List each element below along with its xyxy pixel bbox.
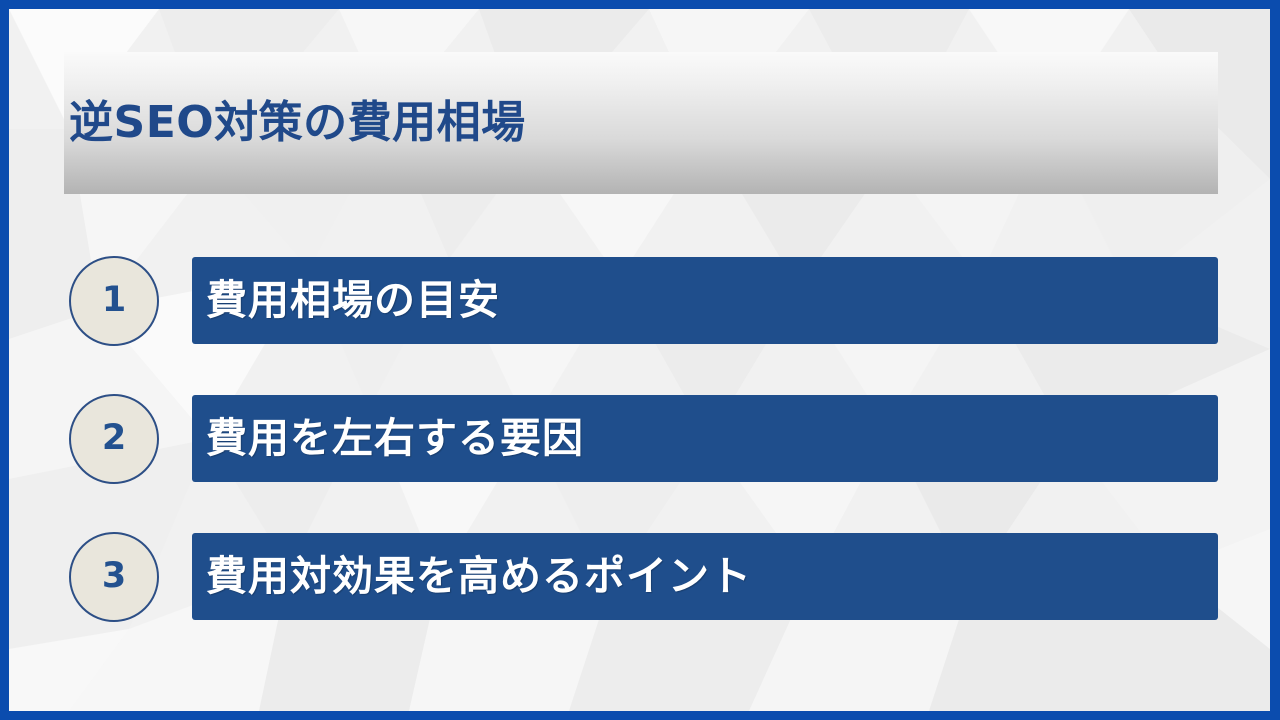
item-bar[interactable]: 費用相場の目安 [192,257,1218,344]
item-bar[interactable]: 費用を左右する要因 [192,395,1218,482]
slide-canvas: 逆SEO対策の費用相場 1 費用相場の目安 2 費用を左右する要因 3 費 [0,0,1280,720]
item-label: 費用相場の目安 [206,280,500,321]
item-number-badge: 3 [69,532,159,622]
item-number: 3 [102,559,126,596]
item-label: 費用を左右する要因 [206,418,584,459]
item-number-badge: 2 [69,394,159,484]
agenda-list: 1 費用相場の目安 2 費用を左右する要因 3 費用対効果を高めるポイント [0,0,1280,720]
item-number-badge: 1 [69,256,159,346]
item-number: 2 [102,421,126,458]
item-bar[interactable]: 費用対効果を高めるポイント [192,533,1218,620]
item-number: 1 [102,283,126,320]
item-label: 費用対効果を高めるポイント [206,556,752,597]
